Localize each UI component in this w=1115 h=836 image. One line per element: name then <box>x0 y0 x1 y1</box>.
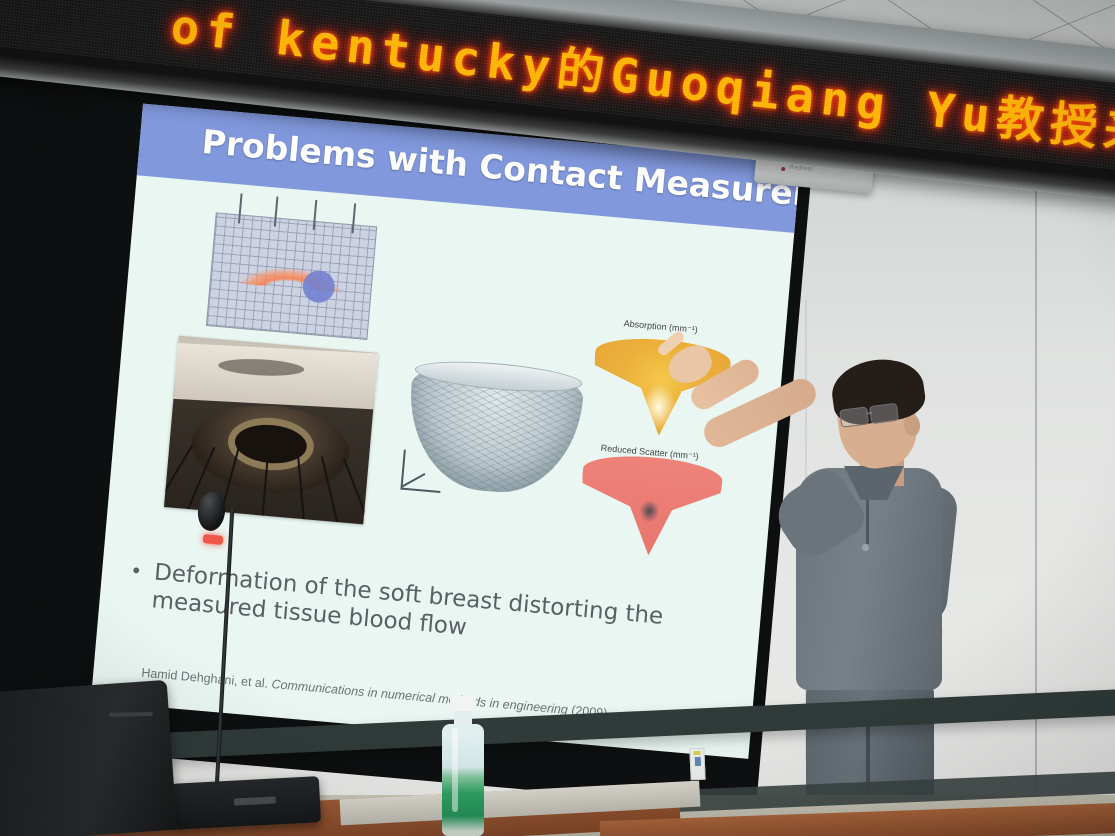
presenter-shirt-button <box>862 544 869 551</box>
microphone-base[interactable] <box>171 776 321 830</box>
fiber-strand <box>164 445 193 509</box>
brand-dot-icon <box>781 167 785 171</box>
presenter <box>690 330 990 836</box>
deformation-field <box>215 220 372 295</box>
mesh-deformation-diagram <box>206 212 377 340</box>
slide-bullet-text: Deformation of the soft breast distortin… <box>151 558 750 666</box>
fiber-strand <box>343 458 371 524</box>
breast-finite-element-mesh <box>388 349 598 516</box>
wall-outlet <box>689 748 705 781</box>
slide-bullet: • Deformation of the soft breast distort… <box>127 556 750 666</box>
laptop-logo-icon <box>109 712 153 717</box>
bottle-body <box>442 724 484 836</box>
lecture-room-photo: Problems with Contact Measurements <box>0 0 1115 836</box>
coordinate-axes-icon <box>390 441 450 498</box>
bottle-cap <box>450 696 476 712</box>
water-bottle <box>440 696 486 836</box>
absorption-map-label: Absorption (mm⁻¹) <box>623 318 698 335</box>
microphone-indicator-light <box>203 534 224 545</box>
bottle-highlight <box>452 728 458 812</box>
bullet-marker: • <box>129 558 143 583</box>
instrument-photo <box>164 336 378 525</box>
microphone-brand-label <box>234 796 276 805</box>
laptop[interactable] <box>0 680 177 836</box>
compression-plate <box>168 343 378 410</box>
citation-journal: Communications in numerical methods in e… <box>271 677 568 717</box>
